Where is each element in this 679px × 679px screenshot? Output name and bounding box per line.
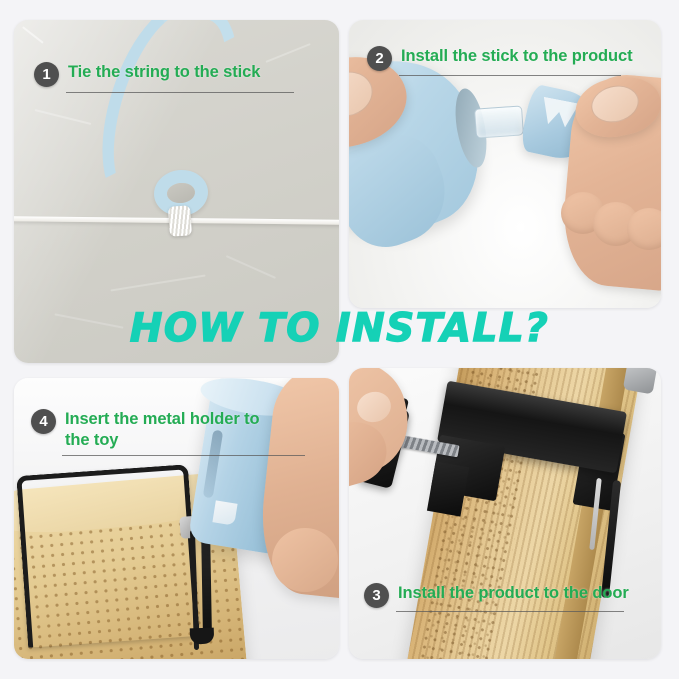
step-panel-2: 2 Install the stick to the product xyxy=(349,20,661,308)
step-3-heading: 3 Install the product to the door xyxy=(364,583,629,608)
heading-rule-4 xyxy=(62,455,305,456)
step-label-2: Install the stick to the product xyxy=(401,46,633,67)
step-badge-3: 3 xyxy=(364,583,389,608)
step-2-heading: 2 Install the stick to the product xyxy=(367,46,633,71)
step-label-1: Tie the string to the stick xyxy=(68,62,260,83)
step-badge-4: 4 xyxy=(31,409,56,434)
string-knot xyxy=(168,205,192,236)
clear-nozzle xyxy=(474,105,524,138)
step-label-3: Install the product to the door xyxy=(398,583,629,604)
metal-wire-holder xyxy=(16,464,200,648)
step-panel-4: 4 Insert the metal holder to the toy xyxy=(14,378,339,659)
step-badge-2: 2 xyxy=(367,46,392,71)
heading-rule-3 xyxy=(396,611,624,612)
step-badge-1: 1 xyxy=(34,62,59,87)
step-4-heading: 4 Insert the metal holder to the toy xyxy=(31,409,260,451)
step-panel-3: 3 Install the product to the door xyxy=(349,368,661,659)
step-label-4: Insert the metal holder to the toy xyxy=(65,409,260,451)
page-title: HOW TO INSTALL? xyxy=(0,306,679,351)
step-3-photo xyxy=(349,368,661,659)
heading-rule-2 xyxy=(399,75,621,76)
step-1-heading: 1 Tie the string to the stick xyxy=(34,62,260,87)
infographic-canvas: 1 Tie the string to the stick 2 Install … xyxy=(0,0,679,679)
heading-rule-1 xyxy=(66,92,294,93)
